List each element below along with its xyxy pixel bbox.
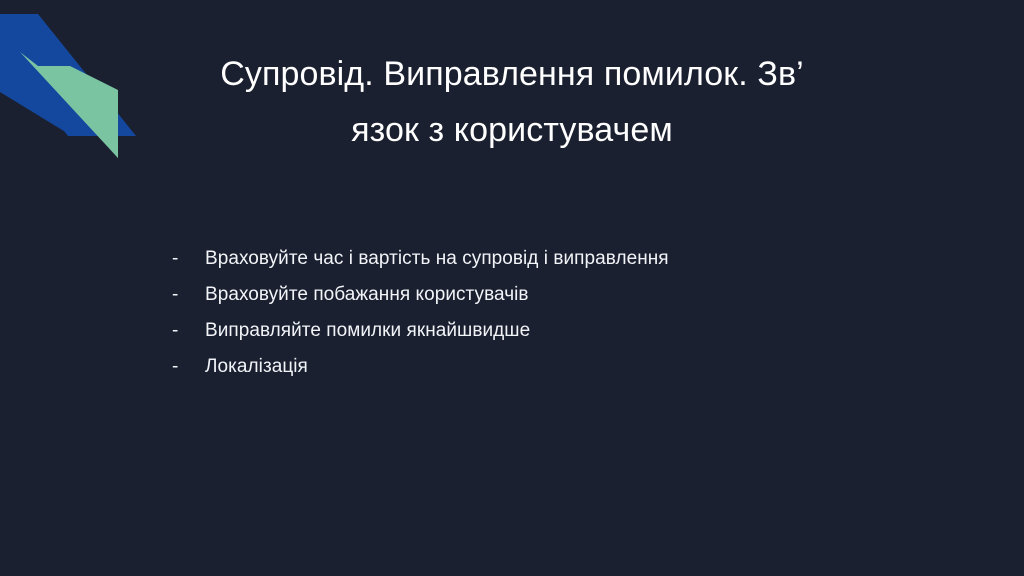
list-item-label: Враховуйте побажання користувачів	[205, 277, 529, 313]
presentation-slide: Супровід. Виправлення помилок. Зв’ язок …	[0, 0, 1024, 576]
slide-bullet-list: - Враховуйте час і вартість на супровід …	[172, 241, 932, 385]
slide-title-line-1: Супровід. Виправлення помилок. Зв’	[112, 46, 912, 102]
bullet-dash-marker: -	[172, 241, 205, 277]
list-item: - Виправляйте помилки якнайшвидше	[172, 313, 932, 349]
list-item-label: Локалізація	[205, 349, 308, 385]
list-item-label: Враховуйте час і вартість на супровід і …	[205, 241, 669, 277]
list-item: - Враховуйте побажання користувачів	[172, 277, 932, 313]
slide-title-line-2: язок з користувачем	[112, 102, 912, 158]
bullet-dash-marker: -	[172, 277, 205, 313]
slide-title: Супровід. Виправлення помилок. Зв’ язок …	[112, 46, 912, 158]
bullet-dash-marker: -	[172, 313, 205, 349]
list-item-label: Виправляйте помилки якнайшвидше	[205, 313, 530, 349]
list-item: - Локалізація	[172, 349, 932, 385]
bullet-dash-marker: -	[172, 349, 205, 385]
list-item: - Враховуйте час і вартість на супровід …	[172, 241, 932, 277]
